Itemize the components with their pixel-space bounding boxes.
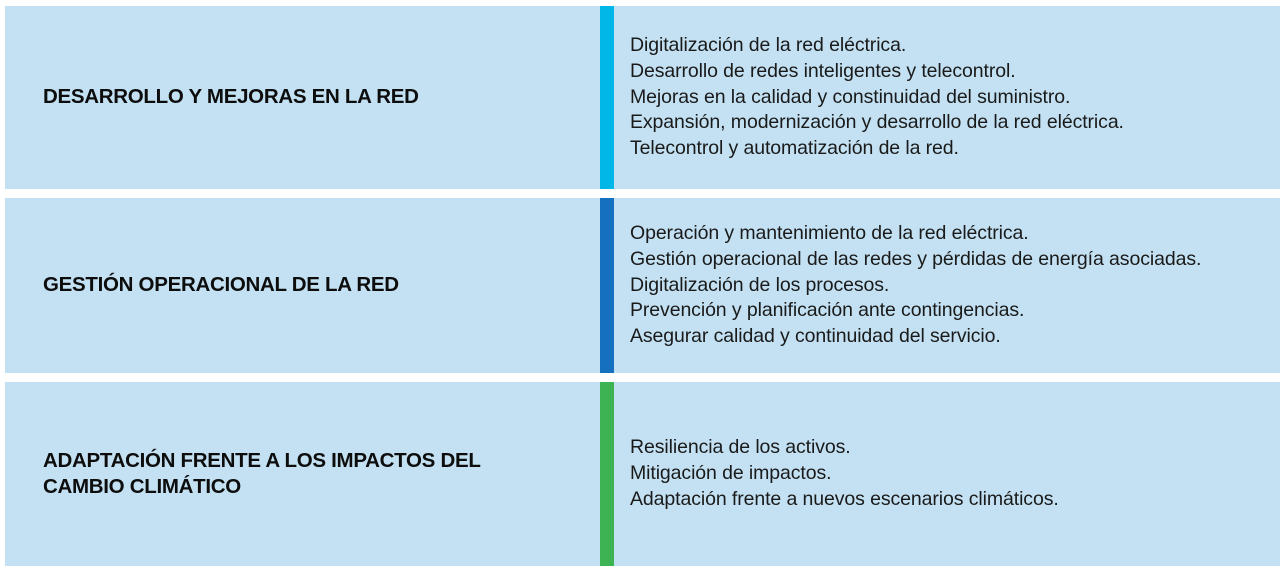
row-item: Prevención y planificación ante continge…	[630, 298, 1266, 324]
row-title: GESTIÓN OPERACIONAL DE LA RED	[43, 272, 399, 298]
three-row-panel-diagram: DESARROLLO Y MEJORAS EN LA RED Digitaliz…	[0, 0, 1280, 579]
row-item: Digitalización de la red eléctrica.	[630, 33, 1266, 59]
diagram-row: DESARROLLO Y MEJORAS EN LA RED Digitaliz…	[5, 6, 1280, 189]
row-item: Resiliencia de los activos.	[630, 435, 1266, 461]
accent-bar-green	[600, 382, 614, 566]
row-title: ADAPTACIÓN FRENTE A LOS IMPACTOS DEL CAM…	[43, 448, 560, 500]
accent-bar-blue	[600, 198, 614, 373]
row-item: Asegurar calidad y continuidad del servi…	[630, 324, 1266, 350]
row-item: Gestión operacional de las redes y pérdi…	[630, 247, 1266, 273]
row-items-cell: Resiliencia de los activos. Mitigación d…	[614, 382, 1280, 566]
diagram-row: ADAPTACIÓN FRENTE A LOS IMPACTOS DEL CAM…	[5, 382, 1280, 566]
row-item: Mejoras en la calidad y constinuidad del…	[630, 85, 1266, 111]
accent-bar-cyan	[600, 6, 614, 189]
row-title: DESARROLLO Y MEJORAS EN LA RED	[43, 84, 419, 110]
diagram-row: GESTIÓN OPERACIONAL DE LA RED Operación …	[5, 198, 1280, 373]
row-title-cell: ADAPTACIÓN FRENTE A LOS IMPACTOS DEL CAM…	[5, 382, 600, 566]
row-item: Telecontrol y automatización de la red.	[630, 136, 1266, 162]
row-title-cell: DESARROLLO Y MEJORAS EN LA RED	[5, 6, 600, 189]
row-item: Mitigación de impactos.	[630, 461, 1266, 487]
row-item: Adaptación frente a nuevos escenarios cl…	[630, 487, 1266, 513]
row-items-cell: Digitalización de la red eléctrica. Desa…	[614, 6, 1280, 189]
row-items-cell: Operación y mantenimiento de la red eléc…	[614, 198, 1280, 373]
row-item: Operación y mantenimiento de la red eléc…	[630, 221, 1266, 247]
row-item: Desarrollo de redes inteligentes y telec…	[630, 59, 1266, 85]
row-item: Digitalización de los procesos.	[630, 273, 1266, 299]
row-item: Expansión, modernización y desarrollo de…	[630, 110, 1266, 136]
row-title-cell: GESTIÓN OPERACIONAL DE LA RED	[5, 198, 600, 373]
